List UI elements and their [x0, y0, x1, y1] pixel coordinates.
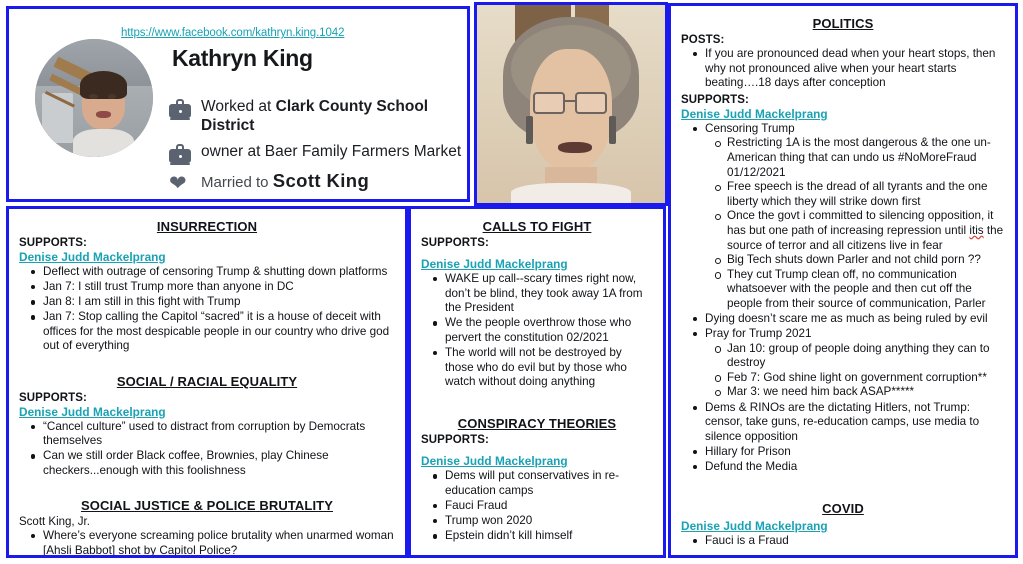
list-item: Pray for Trump 2021 Jan 10: group of peo…: [705, 327, 1005, 400]
person-name-scott-king-jr: Scott King, Jr.: [19, 516, 395, 528]
list-item: Fauci is a Fraud: [705, 534, 1005, 549]
page-title: Kathryn King: [172, 45, 313, 72]
list-item: Epstein didn’t kill himself: [445, 529, 653, 544]
section-title-calls-to-fight: CALLS TO FIGHT: [421, 219, 653, 234]
sub-text-pre: Once the govt i committed to silencing o…: [727, 209, 993, 237]
profile-owner-value: Baer Family Farmers Market: [265, 143, 461, 160]
list-item: WAKE up call--scary times right now, don…: [445, 272, 653, 316]
list-item: Dems & RINOs are the dictating Hitlers, …: [705, 401, 1005, 445]
portrait-photo: [477, 5, 665, 203]
person-link-denise-judd-mackelprang[interactable]: Denise Judd Mackelprang: [681, 519, 1005, 533]
calls-to-fight-bullet-list: WAKE up call--scary times right now, don…: [421, 272, 653, 390]
right-content-panel: POLITICS POSTS: If you are pronounced de…: [668, 3, 1018, 558]
profile-owner-text: owner at Baer Family Farmers Market: [201, 142, 461, 161]
section-title-insurrection: INSURRECTION: [19, 219, 395, 234]
list-item: Where’s everyone screaming police brutal…: [43, 529, 395, 558]
sub-list-item: Feb 7: God shine light on government cor…: [727, 371, 1005, 386]
supports-label: SUPPORTS:: [421, 434, 653, 446]
avatar-mouth: [96, 111, 110, 118]
politics-posts-list: If you are pronounced dead when your hea…: [681, 47, 1005, 91]
list-item: Trump won 2020: [445, 514, 653, 529]
avatar: [35, 39, 153, 157]
analysis-board: https://www.facebook.com/kathryn.king.10…: [0, 0, 1023, 564]
section-title-social-justice: SOCIAL JUSTICE & POLICE BRUTALITY: [19, 498, 395, 513]
sub-list-item: Free speech is the dread of all tyrants …: [727, 180, 1005, 209]
misspelled-word: itis: [969, 224, 983, 237]
list-item: Dying doesn’t scare me as much as being …: [705, 312, 1005, 327]
profile-work-text: Worked at Clark County School District: [201, 97, 467, 135]
list-item: Jan 7: Stop calling the Capitol “sacred”…: [43, 310, 395, 354]
profile-married-prefix: Married to: [201, 174, 273, 191]
supports-label: SUPPORTS:: [19, 237, 395, 249]
person-link-denise-judd-mackelprang[interactable]: Denise Judd Mackelprang: [421, 454, 653, 468]
sub-list-item: Jan 10: group of people doing anything t…: [727, 342, 1005, 371]
person-link-denise-judd-mackelprang[interactable]: Denise Judd Mackelprang: [19, 250, 395, 264]
list-item: Defund the Media: [705, 460, 1005, 475]
profile-married-value: Scott King: [273, 170, 370, 191]
photo-glasses-left-lens: [533, 92, 565, 114]
profile-card: https://www.facebook.com/kathryn.king.10…: [6, 6, 470, 202]
avatar-shirt: [73, 129, 134, 157]
left-content-panel: INSURRECTION SUPPORTS: Denise Judd Macke…: [6, 206, 408, 558]
supports-label: SUPPORTS:: [421, 237, 653, 249]
photo-earring-right: [609, 116, 617, 144]
list-item: “Cancel culture” used to distract from c…: [43, 420, 395, 449]
profile-row-married: ❤ Married to Scott King: [169, 171, 369, 194]
bullet-label-censoring-trump: Censoring Trump: [705, 122, 795, 135]
misspelled-word: Ahsli: [46, 544, 71, 557]
bullet-text-post: ] shot by Capitol Police?: [112, 544, 237, 557]
profile-owner-prefix: owner at: [201, 143, 265, 160]
profile-row-owner: owner at Baer Family Farmers Market: [169, 142, 461, 165]
list-item: Jan 7: I still trust Trump more than any…: [43, 280, 395, 295]
person-link-denise-judd-mackelprang[interactable]: Denise Judd Mackelprang: [19, 405, 395, 419]
list-item: We the people overthrow those who perver…: [445, 316, 653, 345]
supports-label: SUPPORTS:: [681, 94, 1005, 106]
list-item: Dems will put conservatives in re-educat…: [445, 469, 653, 498]
avatar-eye-left: [89, 94, 97, 99]
person-link-denise-judd-mackelprang[interactable]: Denise Judd Mackelprang: [681, 107, 1005, 121]
middle-content-panel: CALLS TO FIGHT SUPPORTS: Denise Judd Mac…: [408, 206, 666, 558]
misspelled-word: Babbot: [75, 544, 112, 557]
briefcase-icon: [169, 98, 191, 120]
list-item: Can we still order Black coffee, Brownie…: [43, 449, 395, 478]
censoring-trump-sublist: Restricting 1A is the most dangerous & t…: [705, 136, 1005, 311]
section-title-politics: POLITICS: [681, 16, 1005, 31]
photo-glasses-bridge: [565, 100, 574, 102]
list-item: Censoring Trump Restricting 1A is the mo…: [705, 122, 1005, 312]
photo-shirt: [511, 183, 631, 203]
heart-icon: ❤: [169, 172, 191, 194]
avatar-hair: [80, 71, 127, 99]
insurrection-bullet-list: Deflect with outrage of censoring Trump …: [19, 265, 395, 354]
pray-for-trump-sublist: Jan 10: group of people doing anything t…: [705, 342, 1005, 400]
bullet-label-pray-for-trump: Pray for Trump 2021: [705, 327, 812, 340]
social-racial-equality-bullet-list: “Cancel culture” used to distract from c…: [19, 420, 395, 479]
supports-label: SUPPORTS:: [19, 392, 395, 404]
profile-card-inner: https://www.facebook.com/kathryn.king.10…: [9, 9, 467, 199]
covid-bullet-list: Fauci is a Fraud: [681, 534, 1005, 549]
section-title-covid: COVID: [681, 501, 1005, 516]
posts-label: POSTS:: [681, 34, 1005, 46]
conspiracy-theories-bullet-list: Dems will put conservatives in re-educat…: [421, 469, 653, 543]
list-item: Fauci Fraud: [445, 499, 653, 514]
facebook-profile-link[interactable]: https://www.facebook.com/kathryn.king.10…: [121, 27, 344, 39]
sub-list-item: Once the govt i committed to silencing o…: [727, 209, 1005, 253]
sub-list-item: Big Tech shuts down Parler and not child…: [727, 253, 1005, 268]
photo-glasses-right-lens: [575, 92, 607, 114]
person-link-denise-judd-mackelprang[interactable]: Denise Judd Mackelprang: [421, 257, 653, 271]
avatar-bg-door: [42, 93, 73, 143]
list-item: The world will not be destroyed by those…: [445, 346, 653, 390]
social-justice-bullet-list: Where’s everyone screaming police brutal…: [19, 529, 395, 558]
section-title-social-racial-equality: SOCIAL / RACIAL EQUALITY: [19, 374, 395, 389]
section-title-conspiracy-theories: CONSPIRACY THEORIES: [421, 416, 653, 431]
photo-mouth: [558, 142, 592, 154]
sub-list-item: Mar 3: we need him back ASAP*****: [727, 385, 1005, 400]
profile-work-prefix: Worked at: [201, 98, 276, 115]
briefcase-icon: [169, 143, 191, 165]
sub-list-item: Restricting 1A is the most dangerous & t…: [727, 136, 1005, 180]
portrait-photo-panel: [474, 2, 668, 206]
list-item: If you are pronounced dead when your hea…: [705, 47, 1005, 91]
photo-earring-left: [526, 116, 534, 144]
list-item: Jan 8: I am still in this fight with Tru…: [43, 295, 395, 310]
profile-row-work: Worked at Clark County School District: [169, 97, 467, 135]
politics-bullet-list: Censoring Trump Restricting 1A is the mo…: [681, 122, 1005, 475]
list-item: Hillary for Prison: [705, 445, 1005, 460]
sub-list-item: They cut Trump clean off, no communicati…: [727, 268, 1005, 312]
profile-married-text: Married to Scott King: [201, 171, 369, 192]
list-item: Deflect with outrage of censoring Trump …: [43, 265, 395, 280]
